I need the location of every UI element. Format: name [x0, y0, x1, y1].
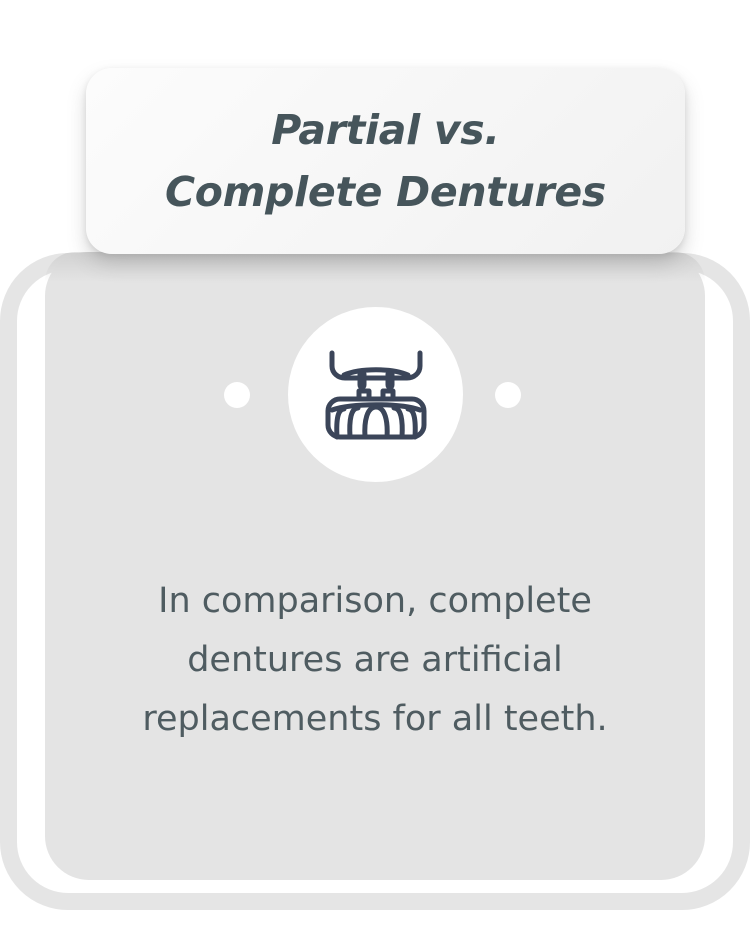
- decorative-dot-left: [224, 382, 250, 408]
- icon-area: [45, 300, 705, 495]
- decorative-dot-right: [495, 382, 521, 408]
- page-title: Partial vs. Complete Dentures: [165, 99, 606, 224]
- body-text: In comparison, complete dentures are art…: [75, 572, 675, 748]
- dentures-icon: [322, 347, 430, 443]
- title-card: Partial vs. Complete Dentures: [86, 68, 685, 254]
- icon-badge: [288, 307, 463, 482]
